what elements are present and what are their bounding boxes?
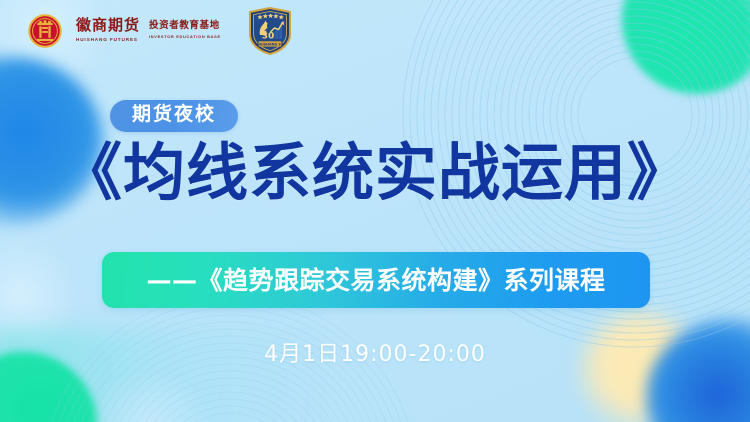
page-title: 《均线系统实战运用》 <box>60 136 690 209</box>
brand-subtitle-en: INVESTOR EDUCATION BASE <box>149 34 221 40</box>
company-seal-icon <box>28 14 62 48</box>
promo-banner: 徽商期货 HUISHANG FUTURES 投资者教育基地 INVESTOR E… <box>0 0 750 422</box>
course-tag-pill: 期货夜校 <box>110 100 238 132</box>
course-tag-label: 期货夜校 <box>132 103 216 125</box>
header-logo-row: 徽商期货 HUISHANG FUTURES 投资者教育基地 INVESTOR E… <box>0 0 750 62</box>
brand-main-column: 徽商期货 HUISHANG FUTURES <box>76 18 140 43</box>
headline-container: 《均线系统实战运用》 <box>0 138 750 207</box>
brand-name-en: HUISHANG FUTURES <box>76 36 140 43</box>
anniversary-number: 30 <box>262 32 275 42</box>
brand-name-cn: 徽商期货 <box>76 18 140 34</box>
datetime-container: 4月1日19:00-20:00 <box>0 344 750 366</box>
subtitle-gradient-bar: ——《趋势跟踪交易系统构建》系列课程 <box>102 252 650 308</box>
subtitle-label: ——《趋势跟踪交易系统构建》系列课程 <box>146 268 605 293</box>
brand-text-group: 徽商期货 HUISHANG FUTURES 投资者教育基地 INVESTOR E… <box>76 18 221 43</box>
brand-sub-column: 投资者教育基地 INVESTOR EDUCATION BASE <box>149 18 221 40</box>
svg-text:HUISHANG 30: HUISHANG 30 <box>257 42 284 46</box>
brand-subtitle-cn: 投资者教育基地 <box>149 21 221 31</box>
anniversary-shield-badge-icon: HUISHANG 30 30 <box>247 6 293 56</box>
event-datetime: 4月1日19:00-20:00 <box>264 342 486 367</box>
